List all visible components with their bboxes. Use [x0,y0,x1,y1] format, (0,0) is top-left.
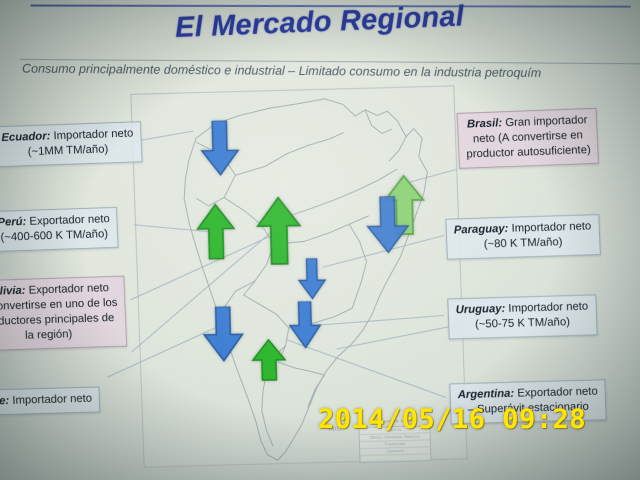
callout-brasil: Brasil: Gran importador neto (A converti… [457,108,600,169]
photograph-of-projected-slide: TRAFIGURA El Mercado Regional Consumo pr… [0,0,640,480]
callout-country-label: Bolivia: [0,285,26,298]
callout-line: (~400-600 K TM/año) [0,227,111,246]
callout-country-label: Argentina: [458,388,515,401]
callout-country-label: Brasil: [467,117,503,130]
callout-ecuador: Ecuador: Importador neto (~1MM TM/año) [0,121,143,167]
callout-country-label: Uruguay: [455,303,505,316]
callout-country-label: Paraguay: [454,223,509,237]
callout-line: Importador neto [53,127,133,142]
camera-timestamp: 2014/05/16 09:28 [318,404,586,435]
callout-country-label: Perú: [0,216,27,229]
callout-line: Gran importador [505,114,588,129]
callout-country-label: Ecuador: [1,130,50,144]
callout-line: Exportador neto [28,282,109,297]
chile-arrow [202,306,245,363]
callout-line: Exportador neto [29,213,110,228]
callout-paraguay: Paraguay: Importador neto (~80 K TM/año) [445,214,600,259]
brasil-arrow-in [365,196,410,255]
callout-uruguay: Uruguay: Importador neto (~50-75 K TM/añ… [447,294,597,339]
callout-line: Importador neto [12,393,92,407]
argentina-arrow [250,338,287,382]
callout-line: Importador neto [511,220,591,234]
source-table-row: Consumo [360,447,430,456]
callout-line: Importador neto [508,301,588,315]
callout-line: (~50-75 K TM/año) [456,314,589,333]
bolivia-arrow [255,195,303,266]
callout-bolivia: Bolivia: Exportador neto (A convertirse … [0,276,127,351]
peru-arrow [195,202,236,261]
callout-peru: Perú: Exportador neto (~400-600 K TM/año… [0,207,119,252]
ecuador-arrow [199,120,240,177]
callout-line: Exportador neto [517,386,598,400]
callout-chile: Chile: Importador neto [0,386,101,416]
uruguay-arrow [288,301,323,349]
page-subtitle: Consumo principalmente doméstico e indus… [22,62,541,81]
paraguay-arrow [297,258,328,300]
page-title: El Mercado Regional [174,0,464,45]
callout-country-label: Chile: [0,395,9,408]
